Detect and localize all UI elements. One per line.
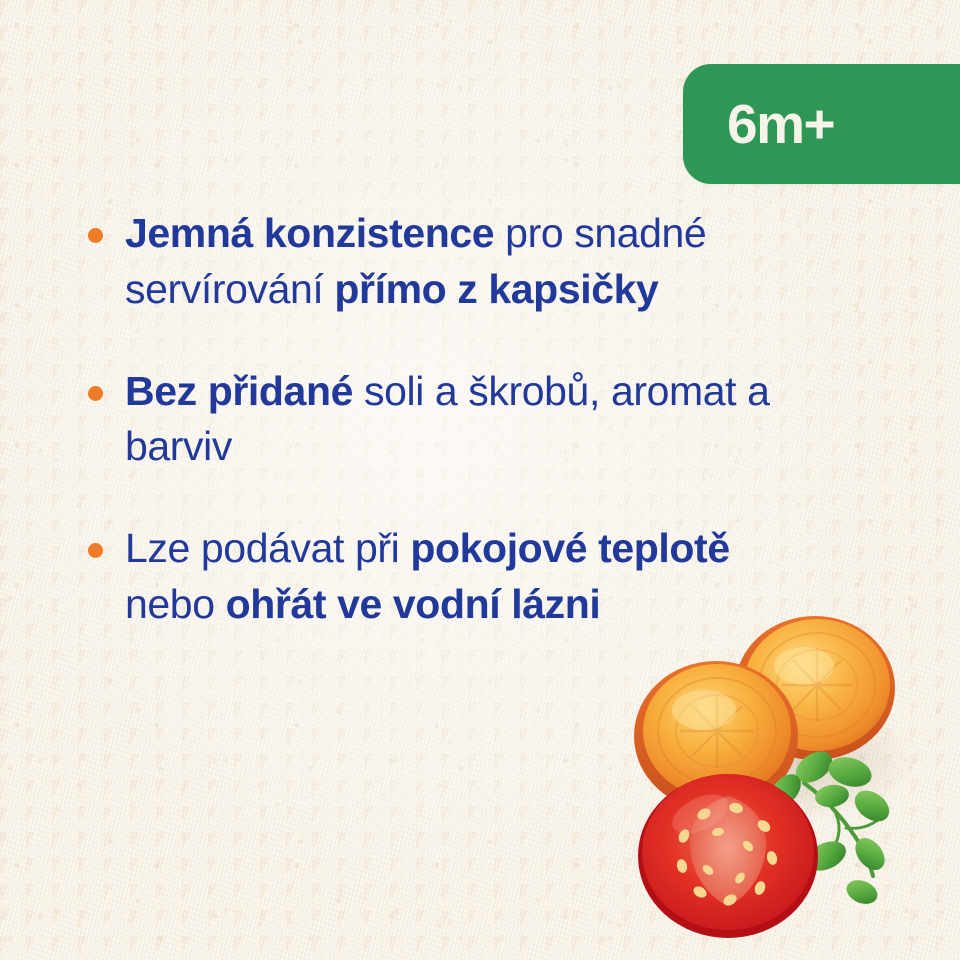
tomato-half [638, 774, 818, 938]
bullet-dot-icon [88, 228, 103, 243]
promo-card: 6m+ Jemná konzistence pro snadné servíro… [0, 0, 960, 960]
bullet-dot-icon [88, 386, 103, 401]
age-badge-label: 6m+ [683, 97, 834, 152]
basil-leaf [843, 876, 881, 908]
list-item: Bez přidané soli a škrobů, aromat a barv… [88, 364, 778, 476]
benefits-list: Jemná konzistence pro snadné servírování… [88, 206, 778, 633]
bullet-dot-icon [88, 543, 103, 558]
vegetable-photo [618, 600, 960, 960]
age-badge: 6m+ [683, 64, 960, 184]
bullet-text-1: Jemná konzistence pro snadné servírování… [125, 206, 778, 318]
bullet-text-2: Bez přidané soli a škrobů, aromat a barv… [125, 364, 778, 476]
list-item: Jemná konzistence pro snadné servírování… [88, 206, 778, 318]
